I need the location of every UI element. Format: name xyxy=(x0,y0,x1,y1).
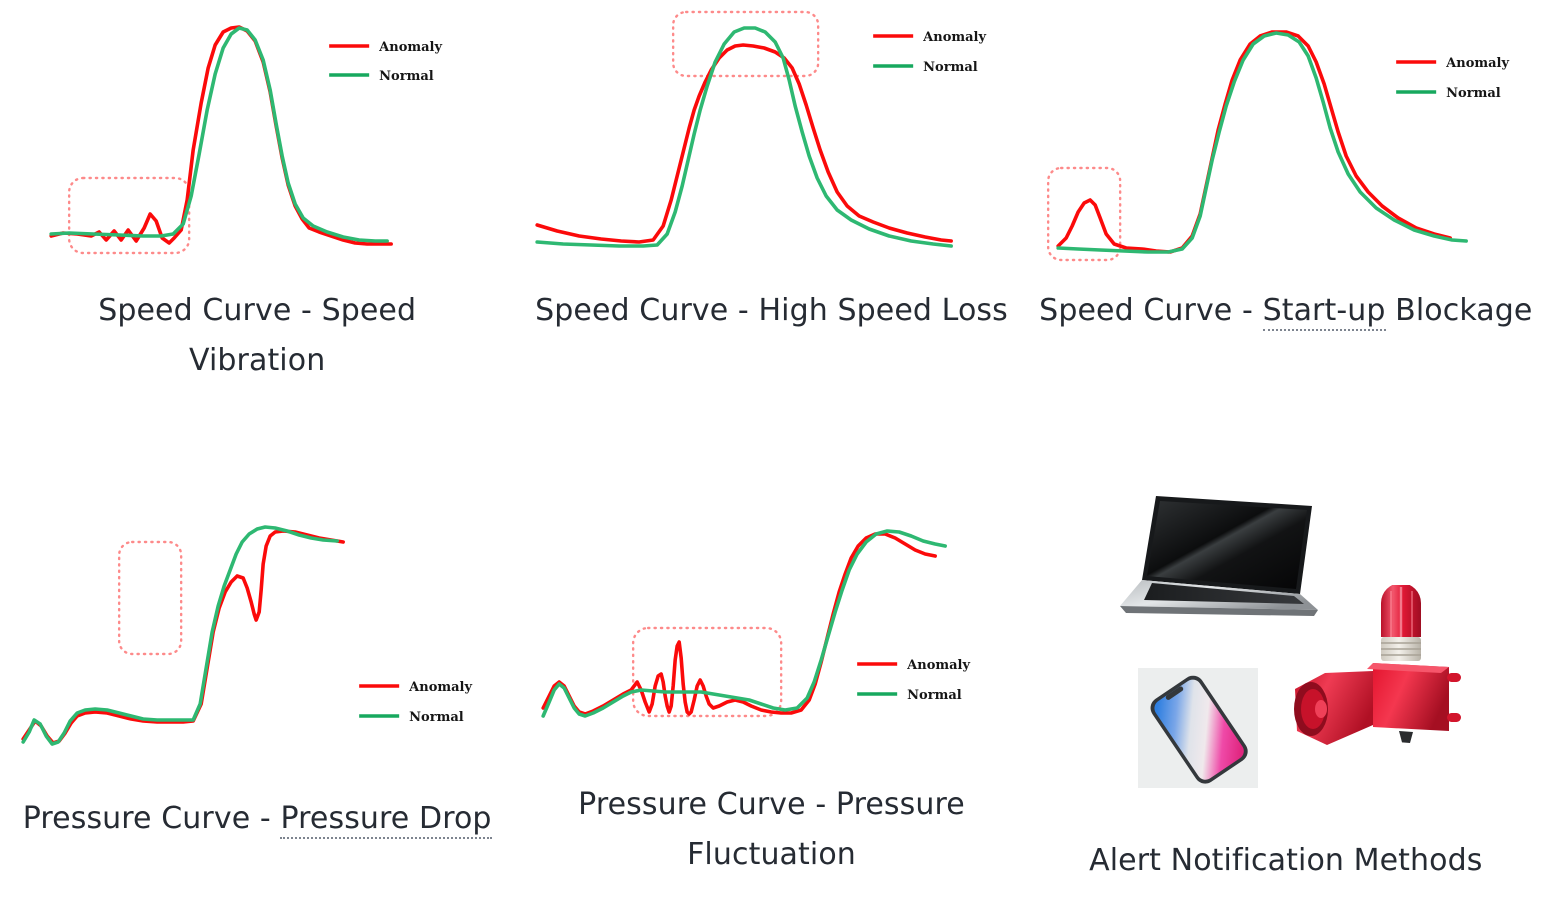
legend-label-normal: Normal xyxy=(907,688,962,703)
chart-pressure-drop: Anomaly Normal xyxy=(0,490,514,780)
legend: Anomaly Normal xyxy=(857,658,970,703)
panel-speed-vibration: Anomaly Normal Speed Curve - Speed Vibra… xyxy=(0,0,514,460)
legend-label-anomaly: Anomaly xyxy=(922,30,986,45)
caption-line-1: Speed Curve - Speed xyxy=(98,293,416,328)
legend-label-normal: Normal xyxy=(409,710,464,725)
caption-prefix: Speed Curve - xyxy=(1039,293,1262,328)
panel-caption: Speed Curve - Start-up Blockage xyxy=(1039,286,1532,336)
smartphone-image xyxy=(1138,668,1258,788)
panel-high-speed-loss: Anomaly Normal Speed Curve - High Speed … xyxy=(514,0,1028,460)
legend-label-anomaly: Anomaly xyxy=(906,658,970,673)
laptop-screen xyxy=(1147,501,1307,589)
legend: Anomaly Normal xyxy=(873,30,986,75)
legend-label-normal: Normal xyxy=(1446,86,1501,101)
alarm-bolt xyxy=(1399,731,1413,743)
panel-pressure-drop: Anomaly Normal Pressure Curve - Pressure… xyxy=(0,460,514,901)
legend-label-anomaly: Anomaly xyxy=(1445,56,1509,71)
alarm-horn-image xyxy=(1281,585,1471,775)
highlight-box xyxy=(119,542,181,654)
alarm-enclosure xyxy=(1373,663,1449,731)
normal-line xyxy=(51,28,387,241)
legend-label-anomaly: Anomaly xyxy=(378,40,442,55)
caption-prefix: Pressure Curve - xyxy=(23,801,281,836)
mount-lug xyxy=(1447,673,1461,682)
panel-caption: Speed Curve - High Speed Loss xyxy=(535,286,1008,336)
normal-line xyxy=(543,531,945,716)
chart-startup-blockage: Anomaly Normal xyxy=(1029,0,1543,280)
caption-spellcheck-word: Start-up xyxy=(1263,293,1386,331)
chart-pressure-fluctuation: Anomaly Normal xyxy=(514,500,1028,770)
caption-line-2: Vibration xyxy=(189,343,325,378)
anomaly-line xyxy=(23,531,343,743)
anomaly-path-helper2 xyxy=(23,526,233,742)
panel-caption: Pressure Curve - Pressure Fluctuation xyxy=(578,780,965,879)
caption-line-2: Fluctuation xyxy=(687,837,856,872)
caption-spellcheck-word: Pressure Drop xyxy=(280,801,491,839)
panel-caption: Speed Curve - Speed Vibration xyxy=(98,286,416,385)
caption-line-1: Pressure Curve - Pressure xyxy=(578,787,965,822)
legend-label-normal: Normal xyxy=(923,60,978,75)
panel-alert-notification: Alert Notification Methods xyxy=(1029,460,1543,901)
legend-label-anomaly: Anomaly xyxy=(408,680,472,695)
device-collage xyxy=(1076,490,1496,820)
panel-caption: Pressure Curve - Pressure Drop xyxy=(23,794,492,844)
anomaly-line xyxy=(543,534,935,714)
mount-lug xyxy=(1447,713,1461,722)
chart-speed-vibration: Anomaly Normal xyxy=(0,0,514,280)
normal-line xyxy=(537,28,951,246)
anomaly-path-helper xyxy=(23,490,220,742)
anomaly-line xyxy=(537,45,951,242)
figure-grid: Anomaly Normal Speed Curve - Speed Vibra… xyxy=(0,0,1543,901)
legend: Anomaly Normal xyxy=(1396,56,1509,101)
caption-suffix: Blockage xyxy=(1386,293,1533,328)
panel-caption: Alert Notification Methods xyxy=(1089,836,1482,886)
chart-high-speed-loss: Anomaly Normal xyxy=(514,0,1028,280)
normal-line xyxy=(23,527,337,744)
legend: Anomaly Normal xyxy=(329,40,442,84)
legend: Anomaly Normal xyxy=(359,680,472,725)
legend-label-normal: Normal xyxy=(379,69,434,84)
panel-startup-blockage: Anomaly Normal Speed Curve - Start-up Bl… xyxy=(1029,0,1543,460)
horn-driver xyxy=(1315,700,1327,718)
panel-pressure-fluctuation: Anomaly Normal Pressure Curve - Pressure… xyxy=(514,460,1028,901)
